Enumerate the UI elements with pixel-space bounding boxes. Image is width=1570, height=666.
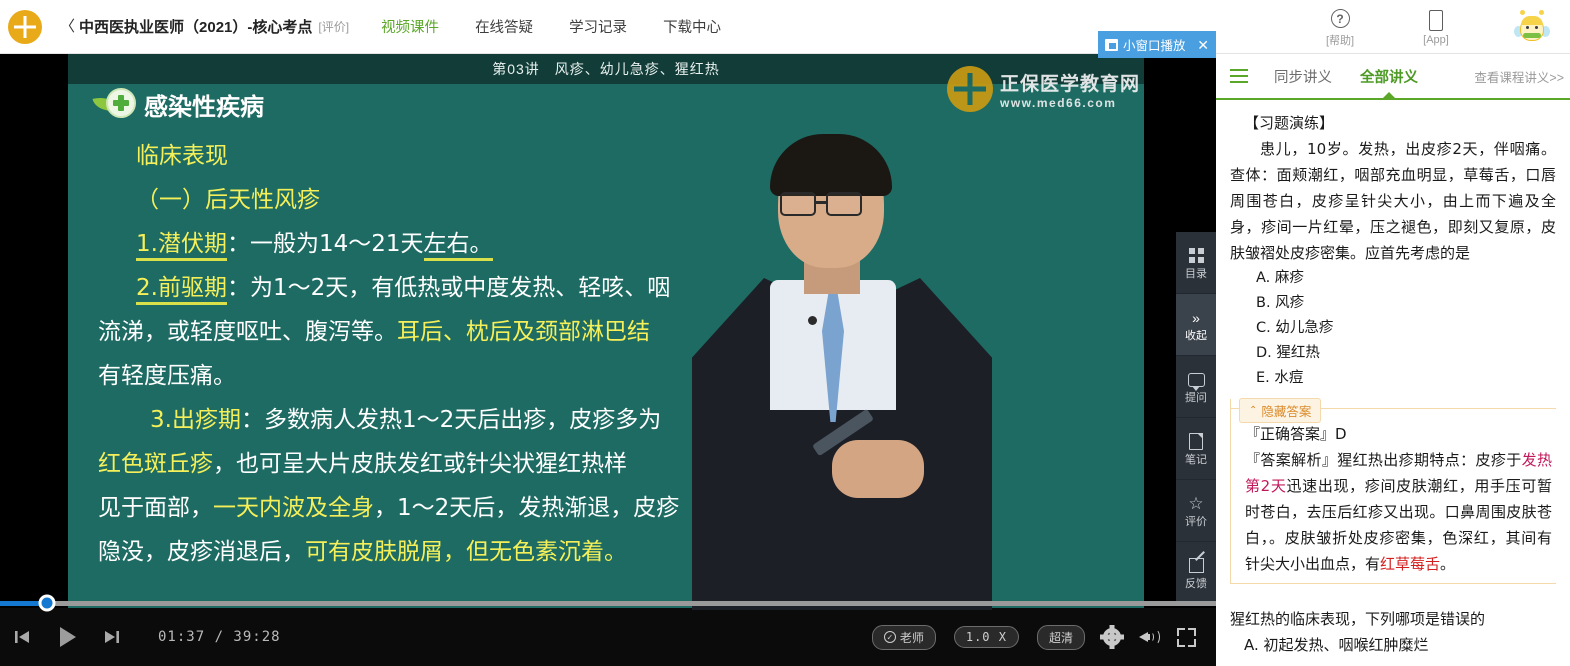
tab-online-qa[interactable]: 在线答疑: [475, 16, 533, 37]
slide-line: 3.出疹期：多数病人发热1～2天后出疹，皮疹多为: [98, 398, 1134, 442]
slide-text: ：一般为14～21天: [227, 231, 424, 257]
progress-bar[interactable]: [0, 601, 1216, 606]
answer-content: 『正确答案』D 『答案解析』猩红热出疹期特点：皮疹于发热第2天迅速出现，疹间皮肤…: [1245, 421, 1552, 577]
slide-text: ，也可呈大片皮肤发红或针尖状猩红热样: [213, 451, 627, 477]
tab-study-record[interactable]: 学习记录: [569, 16, 627, 37]
analysis-line: 『答案解析』猩红热出疹期特点：皮疹于发热第2天迅速出现，疹间皮肤潮红，用手压可暂…: [1245, 447, 1552, 577]
edit-pencil-icon: [1189, 556, 1204, 576]
slide-text: ：为1～2天，有低热或中度发热、轻咳、咽: [227, 275, 670, 301]
hide-answer-label: 隐藏答案: [1261, 401, 1311, 420]
analysis-highlight-2: 红草莓舌: [1380, 555, 1440, 573]
video-stage[interactable]: 第03讲 风疹、幼儿急疹、猩红热 正保医学教育网 www.med66.com 感…: [68, 54, 1144, 610]
slide-line: 隐没，皮疹消退后，可有皮肤脱屑，但无色素沉着。: [98, 530, 1134, 574]
next-question-option-a[interactable]: A. 初起发热、咽喉红肿糜烂: [1244, 632, 1556, 658]
grid-menu-icon: [1189, 246, 1204, 266]
side-tool-rate[interactable]: ☆ 评价: [1176, 480, 1216, 542]
gear-icon[interactable]: [1103, 628, 1121, 646]
mini-window-icon: [1105, 39, 1118, 51]
slide-text: 一天内波及全身: [213, 495, 374, 521]
slide-text: ，1～2天后，发热渐退，皮疹: [374, 495, 679, 521]
slide-line: （一）后天性风疹: [98, 178, 1134, 222]
bee-mascot-icon: [1514, 9, 1550, 45]
chevron-double-right-icon: »: [1192, 308, 1200, 328]
slide-text: 隐没，皮疹消退后，: [98, 539, 305, 565]
video-lesson-title: 第03讲 风疹、幼儿急疹、猩红热: [492, 59, 720, 79]
side-tool-label: 评价: [1185, 517, 1207, 528]
mobile-phone-icon: [1429, 9, 1443, 33]
slide-content: 感染性疾病 临床表现 （一）后天性风疹 1.潜伏期：一般为14～21天左右。 2…: [68, 84, 1144, 610]
speed-label: 1.0 X: [966, 630, 1007, 644]
slide-body: 临床表现 （一）后天性风疹 1.潜伏期：一般为14～21天左右。 2.前驱期：为…: [98, 134, 1134, 574]
side-tool-notes[interactable]: 笔记: [1176, 418, 1216, 480]
slide-line: 2.前驱期：为1～2天，有低热或中度发热、轻咳、咽: [98, 266, 1134, 310]
lecture-notes-panel: 同步讲义 全部讲义 查看课程讲义>> 【习题演练】 患儿，10岁。发热，出皮疹2…: [1216, 54, 1570, 666]
progress-row: [0, 598, 1216, 608]
slide-text: 流涕，或轻度呕吐、腹泻等。: [98, 319, 397, 345]
next-track-icon[interactable]: [102, 627, 122, 647]
question-circle-icon: ?: [1331, 7, 1350, 31]
quality-selector[interactable]: 超清: [1037, 625, 1085, 650]
mini-window-label: 小窗口播放: [1123, 35, 1186, 54]
med-cross-logo-icon[interactable]: [8, 10, 42, 44]
option-e[interactable]: E. 水痘: [1256, 366, 1556, 391]
teacher-selector[interactable]: ✓ 老师: [872, 625, 936, 650]
hide-answer-button[interactable]: ⌃ 隐藏答案: [1239, 398, 1321, 423]
slide-title: 感染性疾病: [144, 87, 264, 122]
analysis-text-3: 。: [1440, 555, 1455, 573]
star-icon: ☆: [1188, 494, 1203, 514]
side-tool-ask[interactable]: 提问: [1176, 356, 1216, 418]
slide-text: 有轻度压痛。: [98, 363, 236, 389]
leaf-cross-icon: [94, 86, 136, 122]
main-nav: 视频课件 在线答疑 学习记录 下载中心: [381, 16, 721, 37]
top-header: 〈 中西医执业医师（2021）-核心考点 [评价] 视频课件 在线答疑 学习记录…: [0, 0, 1570, 54]
bee-mascot-button[interactable]: [1504, 9, 1560, 45]
side-tool-label: 收起: [1185, 331, 1207, 342]
slide-text: 1.潜伏期: [136, 231, 227, 261]
chevron-up-icon: ⌃: [1249, 406, 1257, 416]
previous-track-icon[interactable]: [12, 627, 32, 647]
quality-label: 超清: [1049, 629, 1073, 646]
side-tool-label: 反馈: [1185, 579, 1207, 590]
side-tool-catalog[interactable]: 目录: [1176, 232, 1216, 294]
header-actions: ? [帮助] [App]: [1312, 0, 1560, 54]
page-title: 中西医执业医师（2021）-核心考点: [79, 16, 312, 37]
help-button[interactable]: ? [帮助]: [1312, 7, 1368, 48]
progress-handle[interactable]: [39, 595, 56, 612]
comment-bubble-icon: [1188, 370, 1205, 390]
slide-text: 3.出疹期: [150, 407, 241, 433]
slide-text: 左右。: [424, 231, 493, 261]
tab-all-notes[interactable]: 全部讲义: [1360, 66, 1418, 87]
analysis-text-1: 猩红热出疹期特点：皮疹于: [1337, 451, 1521, 469]
correct-answer-value: D: [1335, 425, 1347, 443]
video-player: 第03讲 风疹、幼儿急疹、猩红热 正保医学教育网 www.med66.com 感…: [0, 54, 1216, 666]
side-tool-feedback[interactable]: 反馈: [1176, 542, 1216, 604]
option-d[interactable]: D. 猩红热: [1256, 341, 1556, 366]
playback-speed-selector[interactable]: 1.0 X: [954, 626, 1019, 648]
app-root: 〈 中西医执业医师（2021）-核心考点 [评价] 视频课件 在线答疑 学习记录…: [0, 0, 1570, 666]
slide-line: 临床表现: [98, 134, 1134, 178]
slide-header: 感染性疾病: [94, 86, 264, 122]
chevron-left-icon[interactable]: 〈: [60, 19, 75, 34]
next-question-stem: 猩红热的临床表现，下列哪项是错误的: [1230, 606, 1556, 632]
slide-text: 临床表现: [136, 143, 228, 169]
notes-body[interactable]: 【习题演练】 患儿，10岁。发热，出皮疹2天，伴咽痛。查体：面颊潮红，咽部充血明…: [1216, 102, 1570, 666]
app-button[interactable]: [App]: [1408, 9, 1464, 46]
speaker-icon[interactable]: [1139, 628, 1159, 646]
mini-window-badge[interactable]: 小窗口播放 ✕: [1098, 31, 1216, 58]
play-icon[interactable]: [54, 624, 80, 650]
check-circle-icon: ✓: [884, 631, 896, 643]
option-b[interactable]: B. 风疹: [1256, 291, 1556, 316]
side-tool-label: 目录: [1185, 269, 1207, 280]
notes-tab-bar: 同步讲义 全部讲义 查看课程讲义>>: [1216, 54, 1570, 100]
app-label: [App]: [1423, 34, 1449, 46]
side-tool-label: 笔记: [1185, 455, 1207, 466]
tab-sync-notes[interactable]: 同步讲义: [1274, 66, 1332, 87]
tab-download-center[interactable]: 下载中心: [663, 16, 721, 37]
slide-text: 见于面部，: [98, 495, 213, 521]
exercise-heading: 【习题演练】: [1244, 110, 1556, 136]
view-course-notes-link[interactable]: 查看课程讲义>>: [1474, 67, 1564, 86]
tab-video-courseware[interactable]: 视频课件: [381, 16, 439, 37]
slide-text: 2.前驱期: [136, 275, 227, 305]
analysis-label: 『答案解析』: [1245, 451, 1337, 469]
option-c[interactable]: C. 幼儿急疹: [1256, 316, 1556, 341]
close-icon[interactable]: ✕: [1197, 38, 1209, 52]
slide-line: 见于面部，一天内波及全身，1～2天后，发热渐退，皮疹: [98, 486, 1134, 530]
slide-text: （一）后天性风疹: [136, 187, 320, 213]
time-display: 01:37 / 39:28: [158, 629, 281, 645]
slide-text: 耳后、枕后及颈部淋巴结: [397, 319, 650, 345]
slide-line: 红色斑丘疹，也可呈大片皮肤发红或针尖状猩红热样: [98, 442, 1134, 486]
option-a[interactable]: A. 麻疹: [1256, 266, 1556, 291]
correct-answer-line: 『正确答案』D: [1245, 421, 1552, 447]
teacher-label: 老师: [900, 629, 924, 646]
correct-answer-label: 『正确答案』: [1245, 425, 1335, 443]
side-tool-label: 提问: [1185, 393, 1207, 404]
slide-text: 可有皮肤脱屑，但无色素沉着。: [305, 539, 627, 565]
slide-text: ：多数病人发热1～2天后出疹，皮疹多为: [241, 407, 661, 433]
slide-text: 红色斑丘疹: [98, 451, 213, 477]
slide-line: 1.潜伏期：一般为14～21天左右。: [98, 222, 1134, 266]
hamburger-menu-icon[interactable]: [1230, 69, 1248, 83]
slide-line: 有轻度压痛。: [98, 354, 1134, 398]
fullscreen-icon[interactable]: [1177, 628, 1196, 647]
help-label: [帮助]: [1326, 32, 1354, 48]
question-stem: 患儿，10岁。发热，出皮疹2天，伴咽痛。查体：面颊潮红，咽部充血明显，草莓舌，口…: [1230, 136, 1556, 266]
side-tool-collapse[interactable]: » 收起: [1176, 294, 1216, 356]
evaluate-tag[interactable]: [评价]: [318, 18, 349, 35]
video-side-toolbar: 目录 » 收起 提问 笔记 ☆ 评价 反馈: [1176, 232, 1216, 604]
player-controls: 01:37 / 39:28 ✓ 老师 1.0 X 超清: [0, 608, 1216, 666]
note-book-icon: [1189, 432, 1203, 452]
slide-line: 流涕，或轻度呕吐、腹泻等。耳后、枕后及颈部淋巴结: [98, 310, 1134, 354]
answer-section: ⌃ 隐藏答案 『正确答案』D 『答案解析』猩红热出疹期特点：皮疹于发热第2天迅速…: [1230, 399, 1556, 584]
